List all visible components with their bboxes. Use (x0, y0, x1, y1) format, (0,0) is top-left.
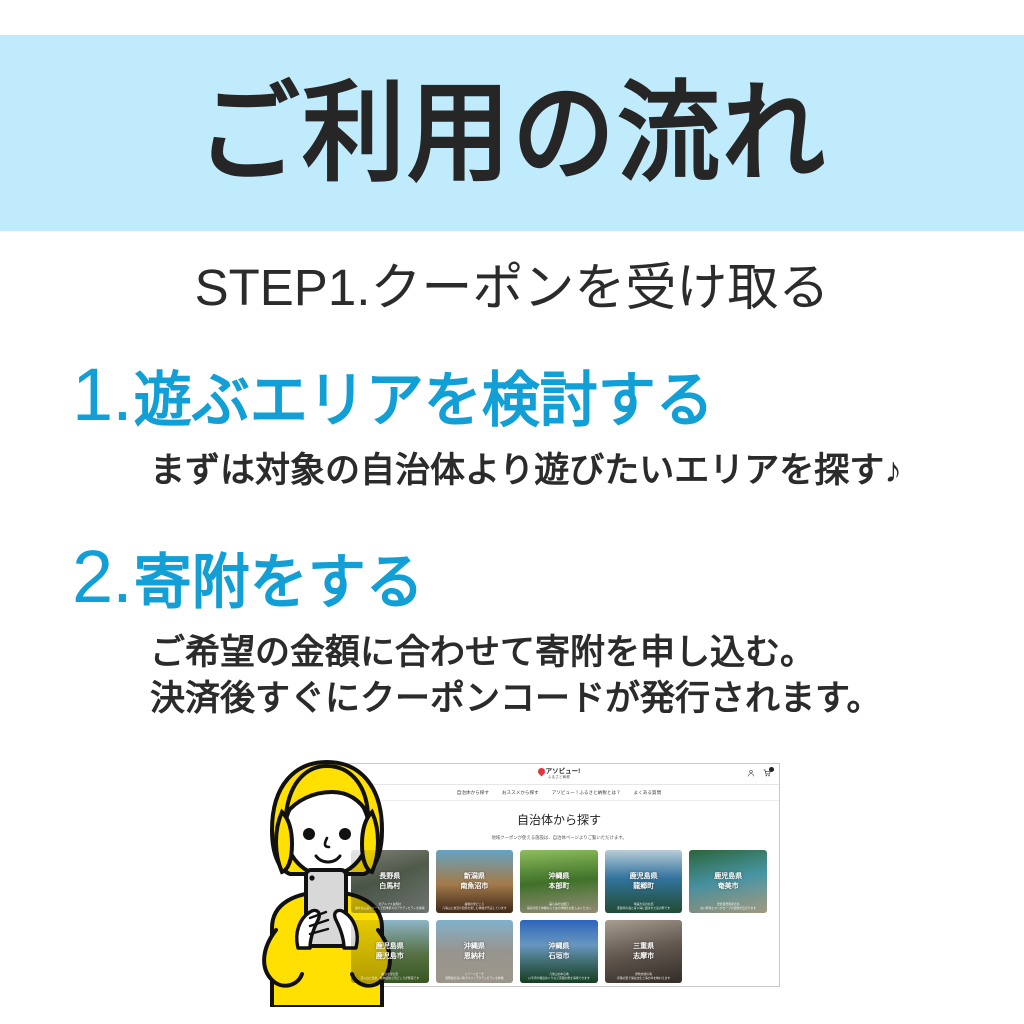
card-note: 桜島を望む街 活火山と温泉、動物園など見どころが豊富です (351, 972, 429, 980)
website-screenshot-mockup: アソビュー! ふるさと納税 自 (338, 763, 780, 987)
cart-badge (769, 767, 774, 772)
nav-item-2[interactable]: アソビュー！ふるさと納税とは？ (552, 790, 621, 796)
card-label: 鹿児島県 鹿児島市 (376, 942, 404, 961)
person-icon[interactable] (747, 769, 755, 777)
cart-icon-wrapper[interactable] (763, 769, 771, 777)
card-note-2: 川平湾や離島めぐりなど南国の旅を満喫できます (523, 976, 595, 980)
card-note-2: 雄大な山岳リゾートで四季折々のアクティビティを満喫 (354, 906, 426, 910)
card-label: 沖縄県 本部町 (548, 872, 569, 891)
card-note: 北アルプス白馬村 雄大な山岳リゾートで四季折々のアクティビティを満喫 (351, 902, 429, 910)
card-note-2: 透明度の高い海でマリンアクティビティを体験 (439, 976, 511, 980)
card-note: 奄美大島の北部 亜熱帯の森と青い海に囲まれた島の町です (605, 902, 683, 910)
header-banner: ご利用の流れ (0, 35, 1024, 231)
step-item-2-number: 2. (72, 540, 132, 614)
character-eye-left (303, 828, 315, 840)
card-label: 長野県 白馬村 (379, 872, 400, 891)
nav-item-1[interactable]: おススメから探す (502, 790, 539, 796)
step-item-2-heading: 2. 寄附をする (0, 540, 1024, 614)
card-pref: 沖縄県 (548, 943, 569, 950)
page-title: ご利用の流れ (197, 78, 827, 187)
card-note-2: 白い砂浜とマングローブの自然が広がります (692, 906, 764, 910)
card-pref: 長野県 (379, 873, 400, 880)
card-note-2: 八海山と魚沼の自然を楽しむ体験が充実しています (439, 906, 511, 910)
site-logo-subtitle: ふるさと納税 (548, 776, 570, 779)
step-item-2: 2. 寄附をする ご希望の金額に合わせて寄附を申し込む。 決済後すぐにクーポンコ… (0, 540, 1024, 722)
municipality-card[interactable]: 鹿児島県 龍郷町 奄美大島の北部 亜熱帯の森と青い海に囲まれた島の町です (605, 850, 683, 913)
step-item-1-number: 1. (72, 358, 132, 432)
card-note: リゾートビーチ 透明度の高い海でマリンアクティビティを体験 (436, 972, 514, 980)
step-item-1-heading: 1. 遊ぶエリアを検討する (0, 358, 1024, 432)
municipality-card[interactable]: 新潟県 南魚沼市 越後の米どころ 八海山と魚沼の自然を楽しむ体験が充実しています (436, 850, 514, 913)
card-city: 奄美市 (718, 883, 739, 890)
card-pref: 新潟県 (464, 873, 485, 880)
card-note: 越後の米どころ 八海山と魚沼の自然を楽しむ体験が充実しています (436, 902, 514, 910)
card-pref: 三重県 (633, 943, 654, 950)
card-city: 本部町 (548, 883, 569, 890)
step-item-1-description: まずは対象の自治体より遊びたいエリアを探す♪ (0, 448, 1024, 494)
card-pref: 鹿児島県 (714, 873, 742, 880)
card-city: 白馬村 (379, 883, 400, 890)
card-label: 鹿児島県 龍郷町 (630, 872, 658, 891)
card-note: 伊勢志摩の海 真珠の里で海女文化と海の幸を味わえます (605, 972, 683, 980)
card-city: 龍郷町 (633, 883, 654, 890)
step-item-2-description: ご希望の金額に合わせて寄附を申し込む。 決済後すぐにクーポンコードが発行されます… (0, 630, 1024, 722)
step-item-2-description-line-2: 決済後すぐにクーポンコードが発行されます。 (150, 676, 1024, 722)
site-logo[interactable]: アソビュー! ふるさと納税 (538, 768, 581, 779)
card-note: 美ら海の玄関口 海辺の街で沖縄ならではの体験をお楽しみください (520, 902, 598, 910)
site-header-actions (747, 769, 771, 777)
character-hair-left (276, 812, 292, 872)
card-pref: 沖縄県 (464, 943, 485, 950)
step-item-2-description-line-1: ご希望の金額に合わせて寄附を申し込む。 (150, 630, 1024, 676)
municipality-card-grid: 長野県 白馬村 北アルプス白馬村 雄大な山岳リゾートで四季折々のアクティビティを… (351, 850, 767, 983)
heart-balloon-icon (536, 767, 546, 777)
character-eye-right (339, 828, 351, 840)
card-city: 石垣市 (548, 953, 569, 960)
card-note: 世界自然遺産の島 白い砂浜とマングローブの自然が広がります (689, 902, 767, 910)
card-city: 志摩市 (633, 953, 654, 960)
card-label: 沖縄県 石垣市 (548, 942, 569, 961)
step-item-1: 1. 遊ぶエリアを検討する まずは対象の自治体より遊びたいエリアを探す♪ (0, 358, 1024, 494)
card-label: 沖縄県 恩納村 (464, 942, 485, 961)
site-header: アソビュー! ふるさと納税 (339, 764, 779, 785)
card-city: 南魚沼市 (460, 883, 488, 890)
card-city: 鹿児島市 (376, 953, 404, 960)
card-note-2: 海辺の街で沖縄ならではの体験をお楽しみください (523, 906, 595, 910)
municipality-card[interactable]: 長野県 白馬村 北アルプス白馬村 雄大な山岳リゾートで四季折々のアクティビティを… (351, 850, 429, 913)
card-note: 八重山の中心地 川平湾や離島めぐりなど南国の旅を満喫できます (520, 972, 598, 980)
card-label: 新潟県 南魚沼市 (460, 872, 488, 891)
site-nav: 自治体から探す おススメから探す アソビュー！ふるさと納税とは？ よくある質問 (339, 785, 779, 801)
site-page-subtitle: 地域クーポンが使える施設は、自治体ページよりご覧いただけます。 (339, 835, 779, 841)
municipality-card[interactable]: 三重県 志摩市 伊勢志摩の海 真珠の里で海女文化と海の幸を味わえます (605, 920, 683, 983)
step-item-2-title: 寄附をする (134, 553, 424, 613)
municipality-card[interactable]: 沖縄県 恩納村 リゾートビーチ 透明度の高い海でマリンアクティビティを体験 (436, 920, 514, 983)
step-heading: STEP1.クーポンを受け取る (0, 262, 1024, 313)
nav-item-0[interactable]: 自治体から探す (457, 790, 489, 796)
municipality-card[interactable]: 沖縄県 石垣市 八重山の中心地 川平湾や離島めぐりなど南国の旅を満喫できます (520, 920, 598, 983)
graphic-root: ご利用の流れ STEP1.クーポンを受け取る 1. 遊ぶエリアを検討する まずは… (0, 0, 1024, 1024)
site-page-title: 自治体から探す (339, 811, 779, 828)
card-note-2: 亜熱帯の森と青い海に囲まれた島の町です (608, 906, 680, 910)
card-note-2: 真珠の里で海女文化と海の幸を味わえます (608, 976, 680, 980)
card-city: 恩納村 (464, 953, 485, 960)
nav-item-3[interactable]: よくある質問 (634, 790, 662, 796)
card-pref: 沖縄県 (548, 873, 569, 880)
card-note-2: 活火山と温泉、動物園など見どころが豊富です (354, 976, 426, 980)
card-pref: 鹿児島県 (376, 943, 404, 950)
step-item-1-title: 遊ぶエリアを検討する (134, 371, 714, 431)
card-pref: 鹿児島県 (630, 873, 658, 880)
card-label: 鹿児島県 奄美市 (714, 872, 742, 891)
phone-camera-icon (309, 875, 314, 880)
municipality-card[interactable]: 沖縄県 本部町 美ら海の玄関口 海辺の街で沖縄ならではの体験をお楽しみください (520, 850, 598, 913)
municipality-card[interactable]: 鹿児島県 鹿児島市 桜島を望む街 活火山と温泉、動物園など見どころが豊富です (351, 920, 429, 983)
municipality-card[interactable]: 鹿児島県 奄美市 世界自然遺産の島 白い砂浜とマングローブの自然が広がります (689, 850, 767, 913)
card-label: 三重県 志摩市 (633, 942, 654, 961)
